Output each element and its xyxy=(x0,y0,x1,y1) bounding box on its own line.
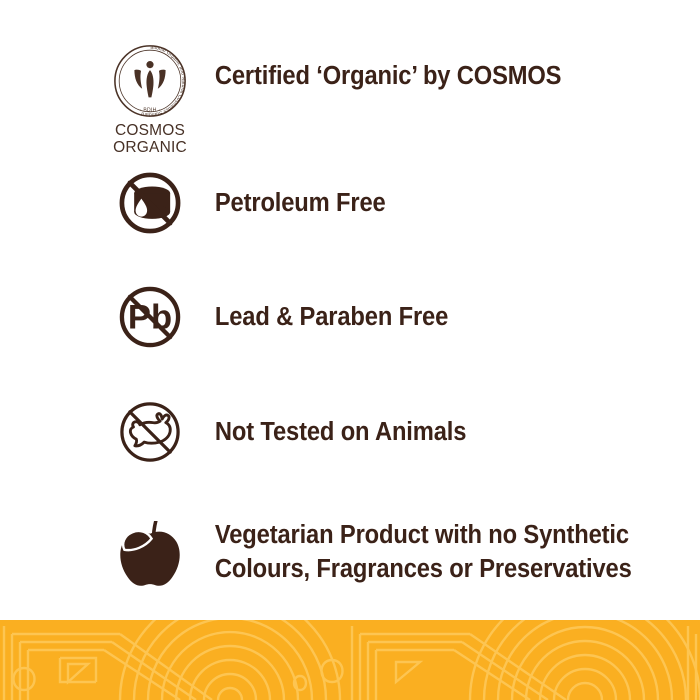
feature-label: Vegetarian Product with no Synthetic Col… xyxy=(200,519,646,587)
icon-cell xyxy=(100,167,200,239)
cosmos-caption-line1: COSMOS xyxy=(113,123,187,140)
petroleum-free-icon xyxy=(114,167,186,239)
cosmos-caption: COSMOS ORGANIC xyxy=(113,123,187,156)
icon-cell: International Organic and Natural Cosmet… xyxy=(100,42,200,156)
product-claims-panel: International Organic and Natural Cosmet… xyxy=(0,0,700,700)
feature-row: Vegetarian Product with no Synthetic Col… xyxy=(100,508,680,598)
feature-row: Pb Lead & Paraben Free xyxy=(100,277,680,357)
feature-label: Petroleum Free xyxy=(200,187,646,220)
band-pattern xyxy=(0,620,700,700)
feature-row: International Organic and Natural Cosmet… xyxy=(100,42,680,157)
icon-cell xyxy=(100,516,200,590)
decorative-bottom-band xyxy=(0,620,700,700)
feature-label: Certified ‘Organic’ by COSMOS xyxy=(200,42,646,93)
not-tested-on-animals-icon xyxy=(114,396,186,468)
lead-paraben-free-icon: Pb xyxy=(114,281,186,353)
feature-label: Not Tested on Animals xyxy=(200,416,646,449)
cosmos-organic-seal-icon: International Organic and Natural Cosmet… xyxy=(111,42,189,120)
icon-cell xyxy=(100,396,200,468)
vegetarian-fruit-icon xyxy=(110,516,190,590)
cosmos-caption-line2: ORGANIC xyxy=(113,140,187,157)
feature-list: International Organic and Natural Cosmet… xyxy=(0,0,700,620)
feature-row: Not Tested on Animals xyxy=(100,392,680,472)
feature-row: Petroleum Free xyxy=(100,163,680,243)
svg-text:· BDIH ·: · BDIH · xyxy=(140,107,161,113)
feature-label: Lead & Paraben Free xyxy=(200,301,646,334)
icon-cell: Pb xyxy=(100,281,200,353)
